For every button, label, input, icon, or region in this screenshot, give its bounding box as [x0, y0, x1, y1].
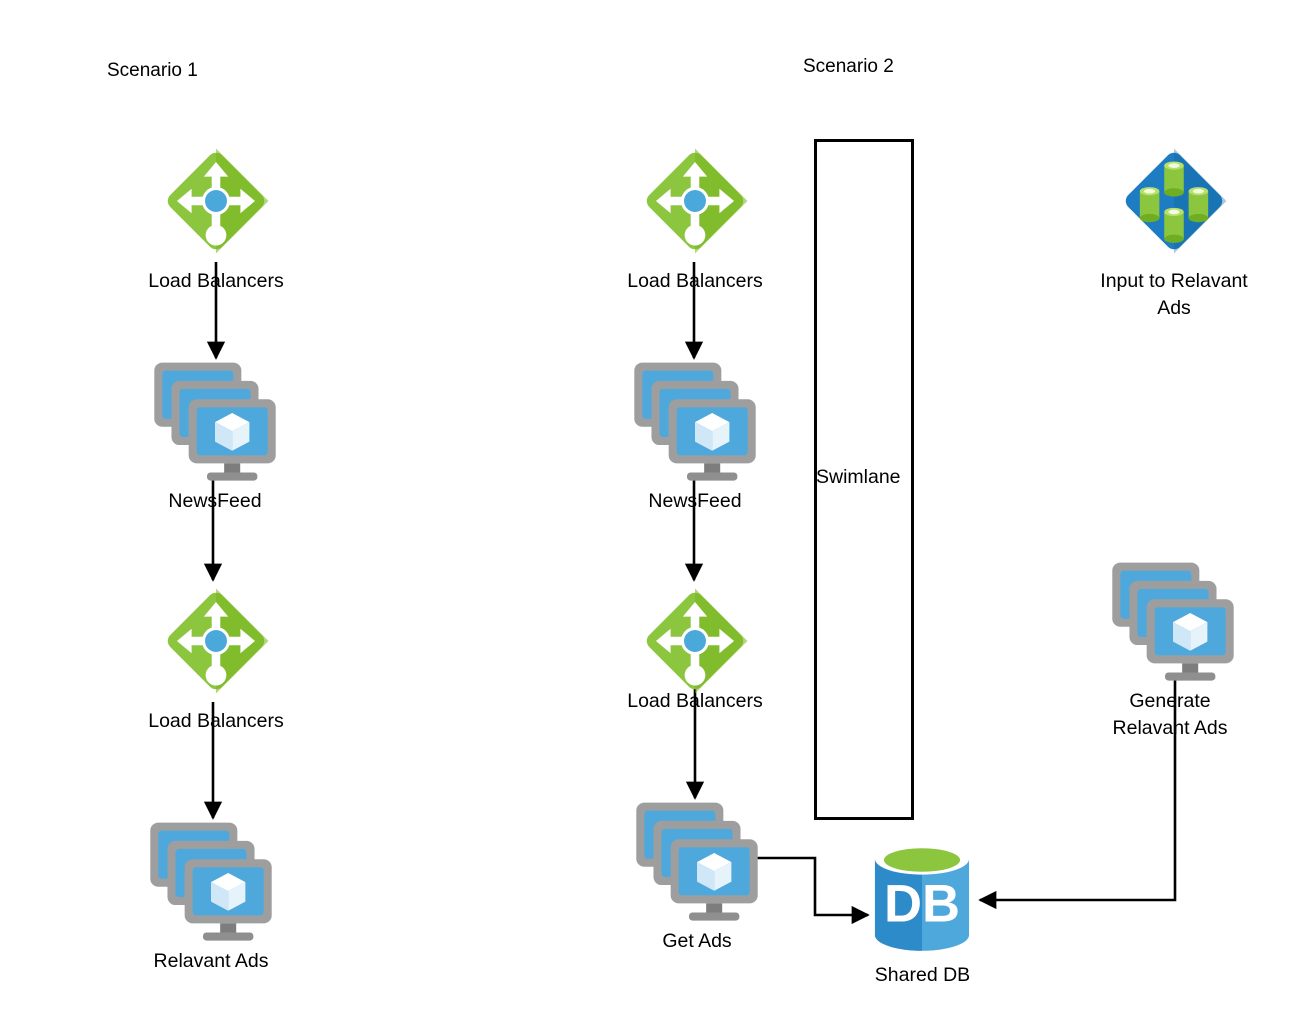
load-balancer-icon[interactable]	[155, 140, 277, 262]
load-balancer-label: Load Balancers	[610, 268, 780, 295]
edge-get-ads-to-shared-db	[755, 858, 868, 915]
shared-db-label: Shared DB	[840, 962, 1005, 989]
newsfeed-label: NewsFeed	[130, 488, 300, 515]
data-store-icon[interactable]	[1113, 140, 1235, 262]
generate-relavant-ads-label: Generate Relavant Ads	[1085, 688, 1255, 742]
relavant-ads-label: Relavant Ads	[126, 948, 296, 975]
load-balancer-icon[interactable]	[155, 580, 277, 702]
load-balancer-label: Load Balancers	[131, 268, 301, 295]
load-balancer-icon[interactable]	[634, 140, 756, 262]
load-balancer-label: Load Balancers	[610, 688, 780, 715]
database-icon[interactable]: DB	[866, 841, 978, 953]
vm-scale-set-icon[interactable]	[632, 358, 758, 484]
vm-scale-set-icon[interactable]	[152, 358, 278, 484]
scenario-1-title: Scenario 1	[107, 60, 198, 82]
load-balancer-icon[interactable]	[634, 580, 756, 702]
scenario-2-title: Scenario 2	[803, 56, 894, 78]
swimlane-label: Swimlane	[816, 466, 901, 489]
get-ads-label: Get Ads	[612, 928, 782, 955]
vm-scale-set-icon[interactable]	[634, 798, 760, 924]
diagram-canvas: Scenario 1 Scenario 2 Swimlane	[0, 0, 1305, 1030]
input-to-relavant-ads-label: Input to Relavant Ads	[1084, 268, 1264, 322]
svg-text:DB: DB	[884, 875, 960, 934]
vm-scale-set-icon[interactable]	[1110, 558, 1236, 684]
vm-scale-set-icon[interactable]	[148, 818, 274, 944]
load-balancer-label: Load Balancers	[131, 708, 301, 735]
newsfeed-label: NewsFeed	[610, 488, 780, 515]
